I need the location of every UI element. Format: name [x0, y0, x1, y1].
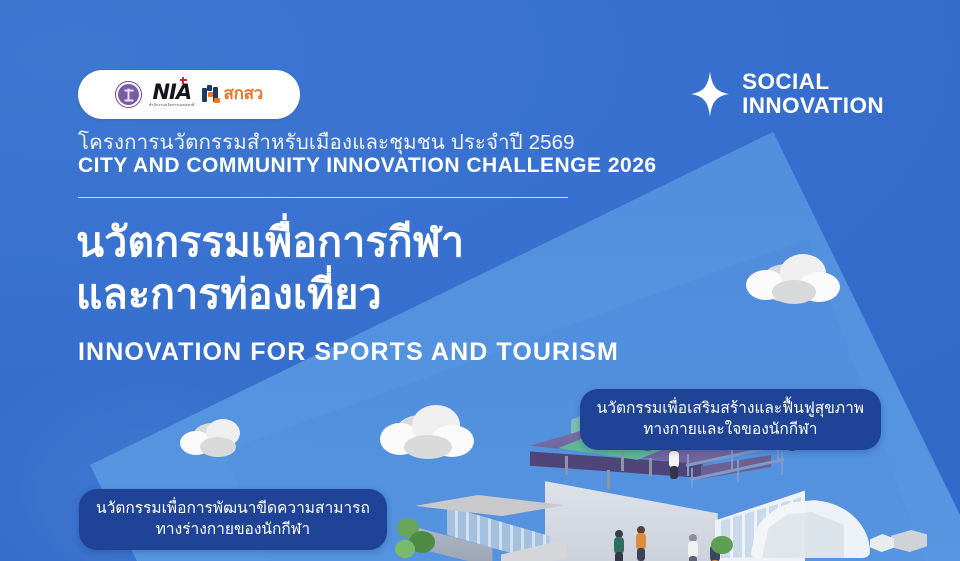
truck-body — [891, 530, 927, 552]
callout-right: นวัตกรรมเพื่อเสริมสร้างและฟื้นฟูสุขภาพ ท… — [580, 389, 881, 450]
tree-icon — [395, 540, 415, 558]
social-innovation-logo: SOCIAL INNOVATION — [691, 70, 884, 118]
interior-people-lower-floor — [600, 520, 760, 561]
nia-subtitle: สำนักงานนวัตกรรมแห่งชาติ — [149, 104, 194, 108]
tree-icon — [711, 536, 733, 554]
treatment-table-legs — [563, 452, 669, 478]
four-point-star-icon — [691, 71, 729, 117]
callout-left: นวัตกรรมเพื่อการพัฒนาขีดความสามารถ ทางร่… — [79, 489, 387, 550]
office-building — [415, 495, 565, 561]
header-divider — [78, 197, 568, 198]
truck-icon — [870, 528, 928, 558]
sksw-wordmark: สกสว — [224, 86, 263, 103]
poster-canvas: NIA สำนักงานนวัตกรรมแห่งชาติ สกสว SOCIAL… — [0, 0, 960, 561]
partner-logo-pill: NIA สำนักงานนวัตกรรมแห่งชาติ สกสว — [78, 70, 300, 119]
main-title-thai-line1: นวัตกรรมเพื่อการกีฬา — [76, 216, 464, 268]
program-title-english: CITY AND COMMUNITY INNOVATION CHALLENGE … — [78, 154, 657, 178]
building-roof — [415, 495, 565, 529]
social-innovation-text: SOCIAL INNOVATION — [742, 70, 884, 118]
social-innovation-line2: INNOVATION — [742, 94, 884, 118]
truck-cab — [870, 534, 894, 552]
callout-right-line2: ทางกายและใจของนักกีฬา — [597, 419, 864, 440]
plus-icon — [180, 77, 187, 84]
main-title-english: INNOVATION FOR SPORTS AND TOURISM — [78, 338, 619, 367]
callout-right-line1: นวัตกรรมเพื่อเสริมสร้างและฟื้นฟูสุขภาพ — [597, 398, 864, 419]
callout-left-line2: ทางร่างกายของนักกีฬา — [96, 519, 370, 540]
main-title-thai-line2: และการท่องเที่ยว — [76, 268, 464, 320]
callout-left-line1: นวัตกรรมเพื่อการพัฒนาขีดความสามารถ — [96, 498, 370, 519]
nia-logo: NIA สำนักงานนวัตกรรมแห่งชาติ — [149, 82, 194, 108]
nia-wordmark: NIA — [152, 82, 191, 103]
sksw-mark-icon — [202, 85, 221, 104]
sksw-logo: สกสว — [202, 85, 263, 104]
main-title-thai: นวัตกรรมเพื่อการกีฬา และการท่องเที่ยว — [76, 216, 464, 321]
nia-royal-seal-icon — [115, 81, 142, 108]
building-right-face — [501, 539, 567, 561]
social-innovation-line1: SOCIAL — [742, 70, 884, 94]
